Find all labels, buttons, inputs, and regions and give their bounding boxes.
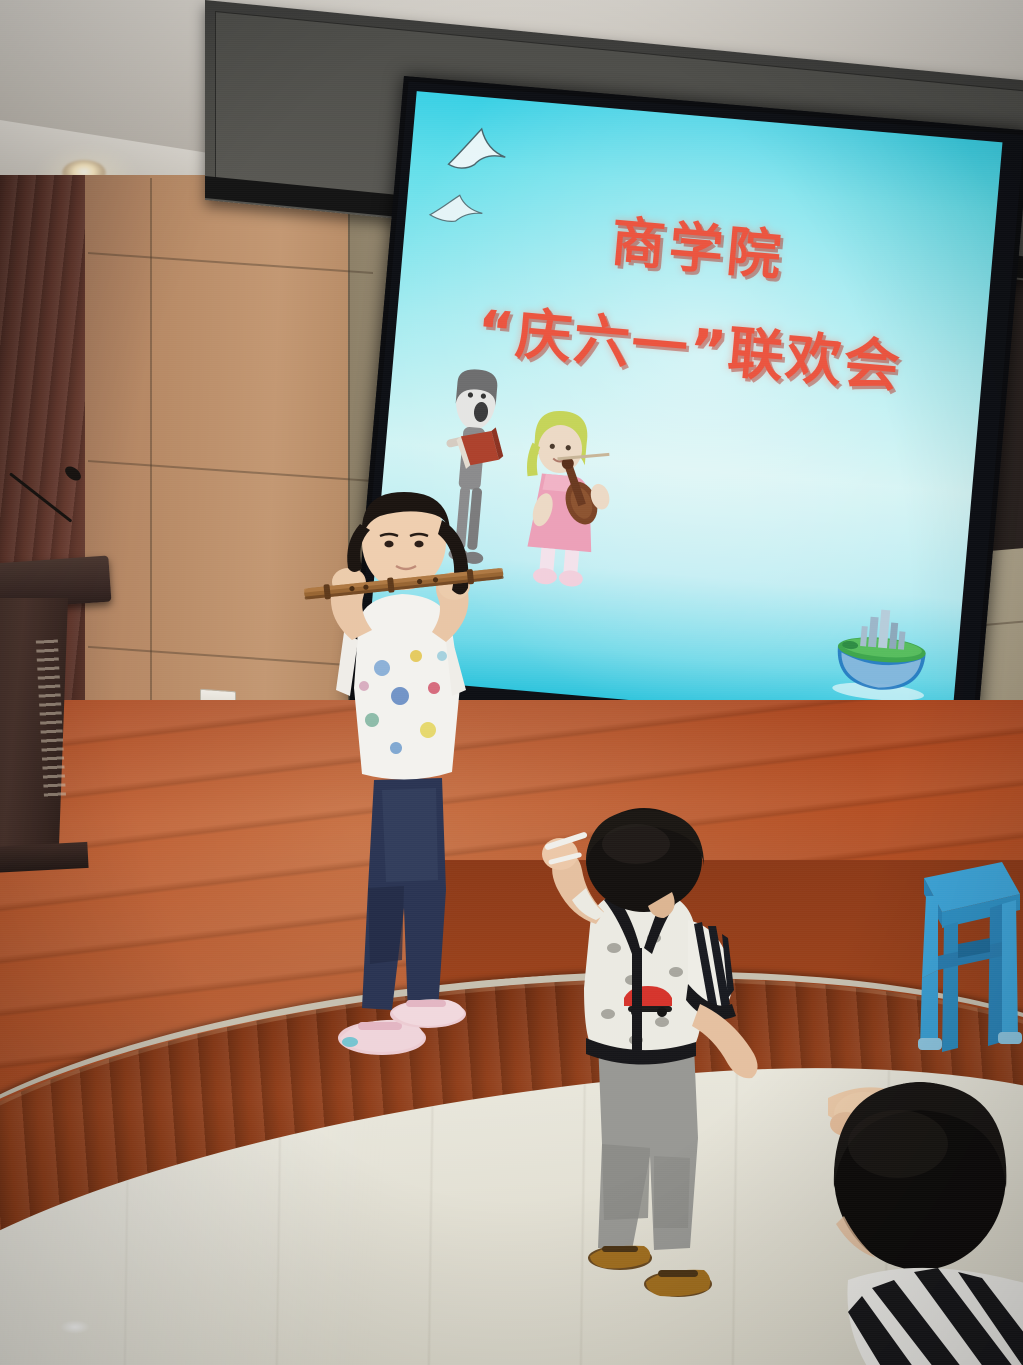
person-adult-foreground: [828, 1028, 1023, 1365]
photo-scene: 商学院 “庆六一”联欢会: [0, 0, 1023, 1365]
person-toddler-boy: [528, 808, 778, 1328]
person-girl-flutist: [296, 490, 516, 1085]
floor-highlight: [60, 1320, 90, 1334]
island-globe-icon: [817, 599, 946, 714]
seagull-upper-icon: [444, 122, 514, 176]
cartoon-violinist-icon: [506, 402, 642, 602]
wall-seam: [150, 178, 152, 738]
blue-plastic-stool[interactable]: [898, 852, 1023, 1057]
